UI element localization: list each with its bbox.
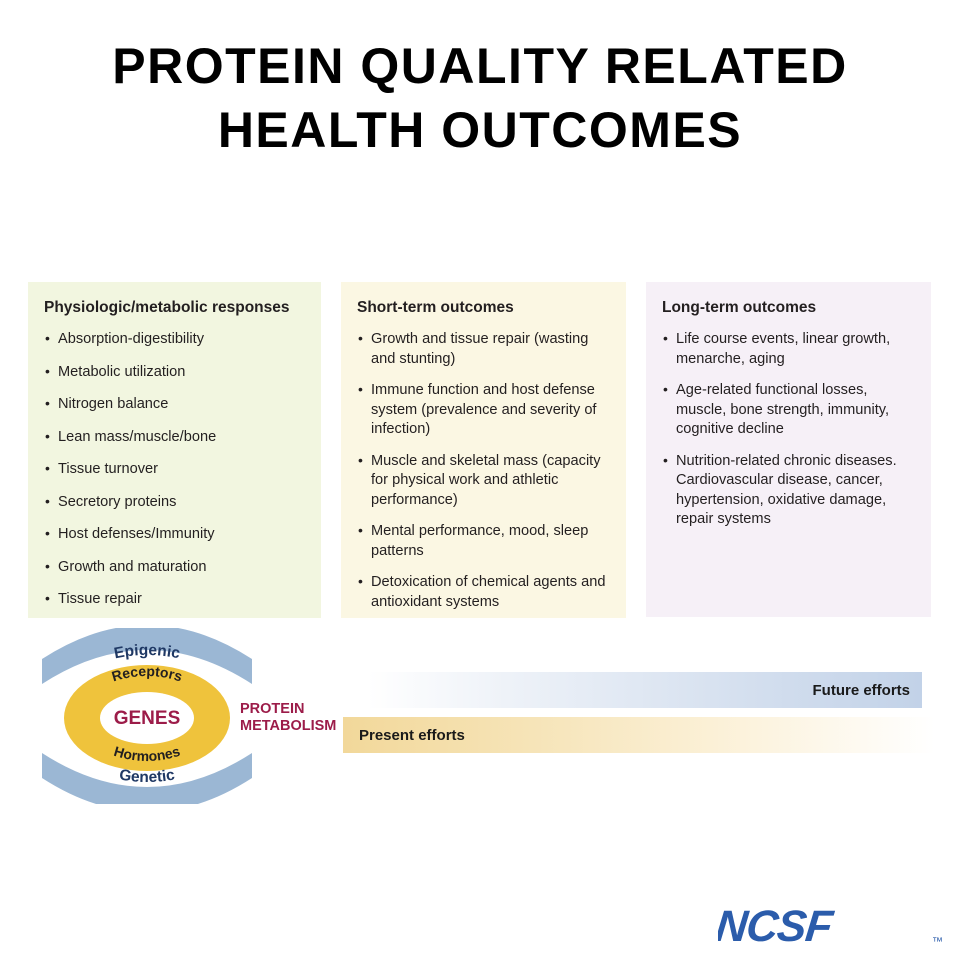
trademark-symbol: ™ <box>932 936 943 948</box>
list-item: •Tissue turnover <box>44 460 303 480</box>
list-item-label: Metabolic utilization <box>58 364 185 380</box>
list-item-label: Nutrition-related chronic diseases. Card… <box>676 453 897 528</box>
list-item-label: Absorption-digestibility <box>58 331 204 347</box>
bullet-icon: • <box>358 329 363 349</box>
panel-1-list: •Absorption-digestibility •Metabolic uti… <box>44 330 303 610</box>
bullet-icon: • <box>45 524 50 544</box>
list-item-label: Host defenses/Immunity <box>58 526 215 542</box>
page-title-line-1: PROTEIN QUALITY RELATED <box>0 34 960 98</box>
list-item: •Life course events, linear growth, mena… <box>662 330 913 369</box>
list-item-label: Growth and tissue repair (wasting and st… <box>371 331 588 367</box>
ncsf-logo: NCSF ™ <box>718 905 950 951</box>
panel-long-term-outcomes: Long-term outcomes •Life course events, … <box>646 282 931 617</box>
list-item-label: Growth and maturation <box>58 559 206 575</box>
list-item-label: Tissue turnover <box>58 461 158 477</box>
genetic-label: Genetic <box>118 766 176 786</box>
list-item: •Lean mass/muscle/bone <box>44 428 303 448</box>
panel-2-list: •Growth and tissue repair (wasting and s… <box>357 330 608 612</box>
list-item: •Muscle and skeletal mass (capacity for … <box>357 452 608 511</box>
list-item-label: Tissue repair <box>58 591 142 607</box>
list-item-label: Immune function and host defense system … <box>371 382 597 437</box>
list-item: •Mental performance, mood, sleep pattern… <box>357 522 608 561</box>
present-efforts-label: Present efforts <box>359 727 465 744</box>
list-item-label: Life course events, linear growth, menar… <box>676 331 890 367</box>
list-item-label: Muscle and skeletal mass (capacity for p… <box>371 453 601 508</box>
bullet-icon: • <box>663 329 668 349</box>
list-item: •Nitrogen balance <box>44 395 303 415</box>
present-efforts-bar: Present efforts <box>343 717 935 753</box>
ncsf-logo-text: NCSF <box>718 905 836 951</box>
panel-physiologic-metabolic-responses: Physiologic/metabolic responses •Absorpt… <box>28 282 321 618</box>
protein-metabolism-label-line-2: METABOLISM <box>240 718 336 734</box>
list-item: •Growth and maturation <box>44 558 303 578</box>
bullet-icon: • <box>358 380 363 400</box>
genes-protein-metabolism-diagram: Epigenic Genetic Receptors Hormones GENE… <box>36 628 346 804</box>
list-item-label: Age-related functional losses, muscle, b… <box>676 382 889 437</box>
list-item: •Host defenses/Immunity <box>44 525 303 545</box>
bullet-icon: • <box>663 380 668 400</box>
bullet-icon: • <box>45 394 50 414</box>
list-item-label: Mental performance, mood, sleep patterns <box>371 523 588 559</box>
epigenic-label: Epigenic <box>113 642 182 662</box>
bullet-icon: • <box>45 427 50 447</box>
bullet-icon: • <box>45 557 50 577</box>
bullet-icon: • <box>45 329 50 349</box>
list-item-label: Lean mass/muscle/bone <box>58 429 216 445</box>
bullet-icon: • <box>358 451 363 471</box>
panel-3-heading: Long-term outcomes <box>662 298 913 317</box>
list-item-label: Nitrogen balance <box>58 396 168 412</box>
list-item-label: Secretory proteins <box>58 494 176 510</box>
bullet-icon: • <box>45 459 50 479</box>
panel-3-list: •Life course events, linear growth, mena… <box>662 330 913 530</box>
page-title: PROTEIN QUALITY RELATED HEALTH OUTCOMES <box>0 34 960 162</box>
list-item: •Secretory proteins <box>44 493 303 513</box>
ncsf-wordmark: NCSF ™ <box>718 905 943 951</box>
list-item: •Immune function and host defense system… <box>357 381 608 440</box>
bullet-icon: • <box>45 362 50 382</box>
genes-label: GENES <box>114 708 181 729</box>
panel-short-term-outcomes: Short-term outcomes •Growth and tissue r… <box>341 282 626 618</box>
list-item: •Metabolic utilization <box>44 363 303 383</box>
future-efforts-bar: Future efforts <box>368 672 922 708</box>
panel-1-heading: Physiologic/metabolic responses <box>44 298 303 317</box>
list-item: •Detoxication of chemical agents and ant… <box>357 573 608 612</box>
protein-metabolism-label-line-1: PROTEIN <box>240 701 304 717</box>
list-item: •Age-related functional losses, muscle, … <box>662 381 913 440</box>
page-title-line-2: HEALTH OUTCOMES <box>0 98 960 162</box>
bullet-icon: • <box>45 589 50 609</box>
future-efforts-label: Future efforts <box>813 682 911 699</box>
list-item: •Absorption-digestibility <box>44 330 303 350</box>
panel-2-heading: Short-term outcomes <box>357 298 608 317</box>
list-item: •Growth and tissue repair (wasting and s… <box>357 330 608 369</box>
bullet-icon: • <box>45 492 50 512</box>
bullet-icon: • <box>358 572 363 592</box>
bullet-icon: • <box>663 451 668 471</box>
bullet-icon: • <box>358 521 363 541</box>
list-item-label: Detoxication of chemical agents and anti… <box>371 574 605 610</box>
list-item: •Nutrition-related chronic diseases. Car… <box>662 452 913 530</box>
list-item: •Tissue repair <box>44 590 303 610</box>
